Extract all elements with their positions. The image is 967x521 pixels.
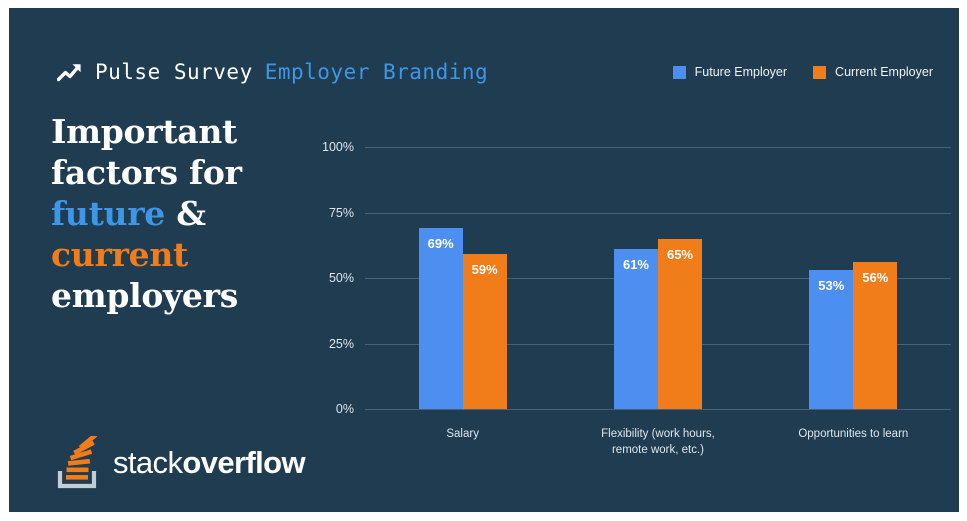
bar-chart: 0% 25% 50% 75% 100% 69% <box>309 133 954 463</box>
bar-value-label: 65% <box>658 247 702 262</box>
bar-future-opportunities[interactable]: 53% <box>809 270 853 409</box>
legend-item-future-employer[interactable]: Future Employer <box>673 65 787 79</box>
headline-line-1: Important <box>51 111 301 152</box>
headline-word-current: current <box>51 234 301 275</box>
headline-line-3: future & <box>51 193 301 234</box>
bar-pair: 53% 56% <box>809 147 897 409</box>
bar-current-flexibility[interactable]: 65% <box>658 239 702 409</box>
bar-future-salary[interactable]: 69% <box>419 228 463 409</box>
x-axis-label-line: Salary <box>355 426 570 442</box>
legend-label-current-employer: Current Employer <box>835 65 933 79</box>
bar-value-label: 56% <box>853 270 897 285</box>
bar-pair: 61% 65% <box>614 147 702 409</box>
page-title: Important factors for future & current e… <box>51 111 301 316</box>
chart-bar-groups: 69% 59% Salary 61% <box>365 147 951 409</box>
x-axis-label-line: Flexibility (work hours, <box>550 426 765 442</box>
bar-group-flexibility: 61% 65% Flexibility (work hours, remote … <box>560 147 755 409</box>
bar-group-salary: 69% 59% Salary <box>365 147 560 409</box>
stack-overflow-logo: stackoverflow <box>53 436 305 490</box>
y-axis-tick-100: 100% <box>322 140 354 154</box>
bar-value-label: 61% <box>614 257 658 272</box>
bar-future-flexibility[interactable]: 61% <box>614 249 658 409</box>
bar-value-label: 53% <box>809 278 853 293</box>
headline-word-future: future <box>51 194 165 233</box>
logo-text-overflow: overflow <box>182 445 305 480</box>
x-axis-label-line: remote work, etc.) <box>550 442 765 458</box>
slide-canvas: Pulse Survey Employer Branding Future Em… <box>9 8 959 512</box>
headline-line-2: factors for <box>51 152 301 193</box>
bar-value-label: 59% <box>463 262 507 277</box>
header-title-secondary: Employer Branding <box>265 60 488 84</box>
header-title-primary: Pulse Survey <box>95 60 253 84</box>
y-axis-tick-25: 25% <box>329 337 354 351</box>
stack-overflow-wordmark: stackoverflow <box>113 445 305 481</box>
trending-up-icon <box>57 61 83 83</box>
headline-ampersand: & <box>176 194 206 233</box>
bar-pair: 69% 59% <box>419 147 507 409</box>
chart-plot-area: 0% 25% 50% 75% 100% 69% <box>365 147 951 409</box>
bar-current-opportunities[interactable]: 56% <box>853 262 897 409</box>
bar-group-opportunities-to-learn: 53% 56% Opportunities to learn <box>756 147 951 409</box>
legend-swatch-current-employer <box>813 66 826 79</box>
chart-legend: Future Employer Current Employer <box>673 52 933 92</box>
headline-line-5: employers <box>51 275 301 316</box>
legend-swatch-future-employer <box>673 66 686 79</box>
slide-header: Pulse Survey Employer Branding Future Em… <box>9 52 959 92</box>
x-axis-label-flexibility: Flexibility (work hours, remote work, et… <box>550 426 765 458</box>
logo-text-stack: stack <box>113 445 182 480</box>
x-axis-label-salary: Salary <box>355 426 570 442</box>
x-axis-label-line: Opportunities to learn <box>746 426 959 442</box>
stack-overflow-logo-icon <box>53 436 103 490</box>
pulse-survey-brandline: Pulse Survey Employer Branding <box>57 52 488 92</box>
legend-item-current-employer[interactable]: Current Employer <box>813 65 933 79</box>
legend-label-future-employer: Future Employer <box>695 65 787 79</box>
y-axis-tick-0: 0% <box>336 402 354 416</box>
y-axis-tick-50: 50% <box>329 271 354 285</box>
gridline-0: 0% <box>365 409 951 410</box>
bar-current-salary[interactable]: 59% <box>463 254 507 409</box>
x-axis-label-opportunities: Opportunities to learn <box>746 426 959 442</box>
bar-value-label: 69% <box>419 236 463 251</box>
y-axis-tick-75: 75% <box>329 206 354 220</box>
